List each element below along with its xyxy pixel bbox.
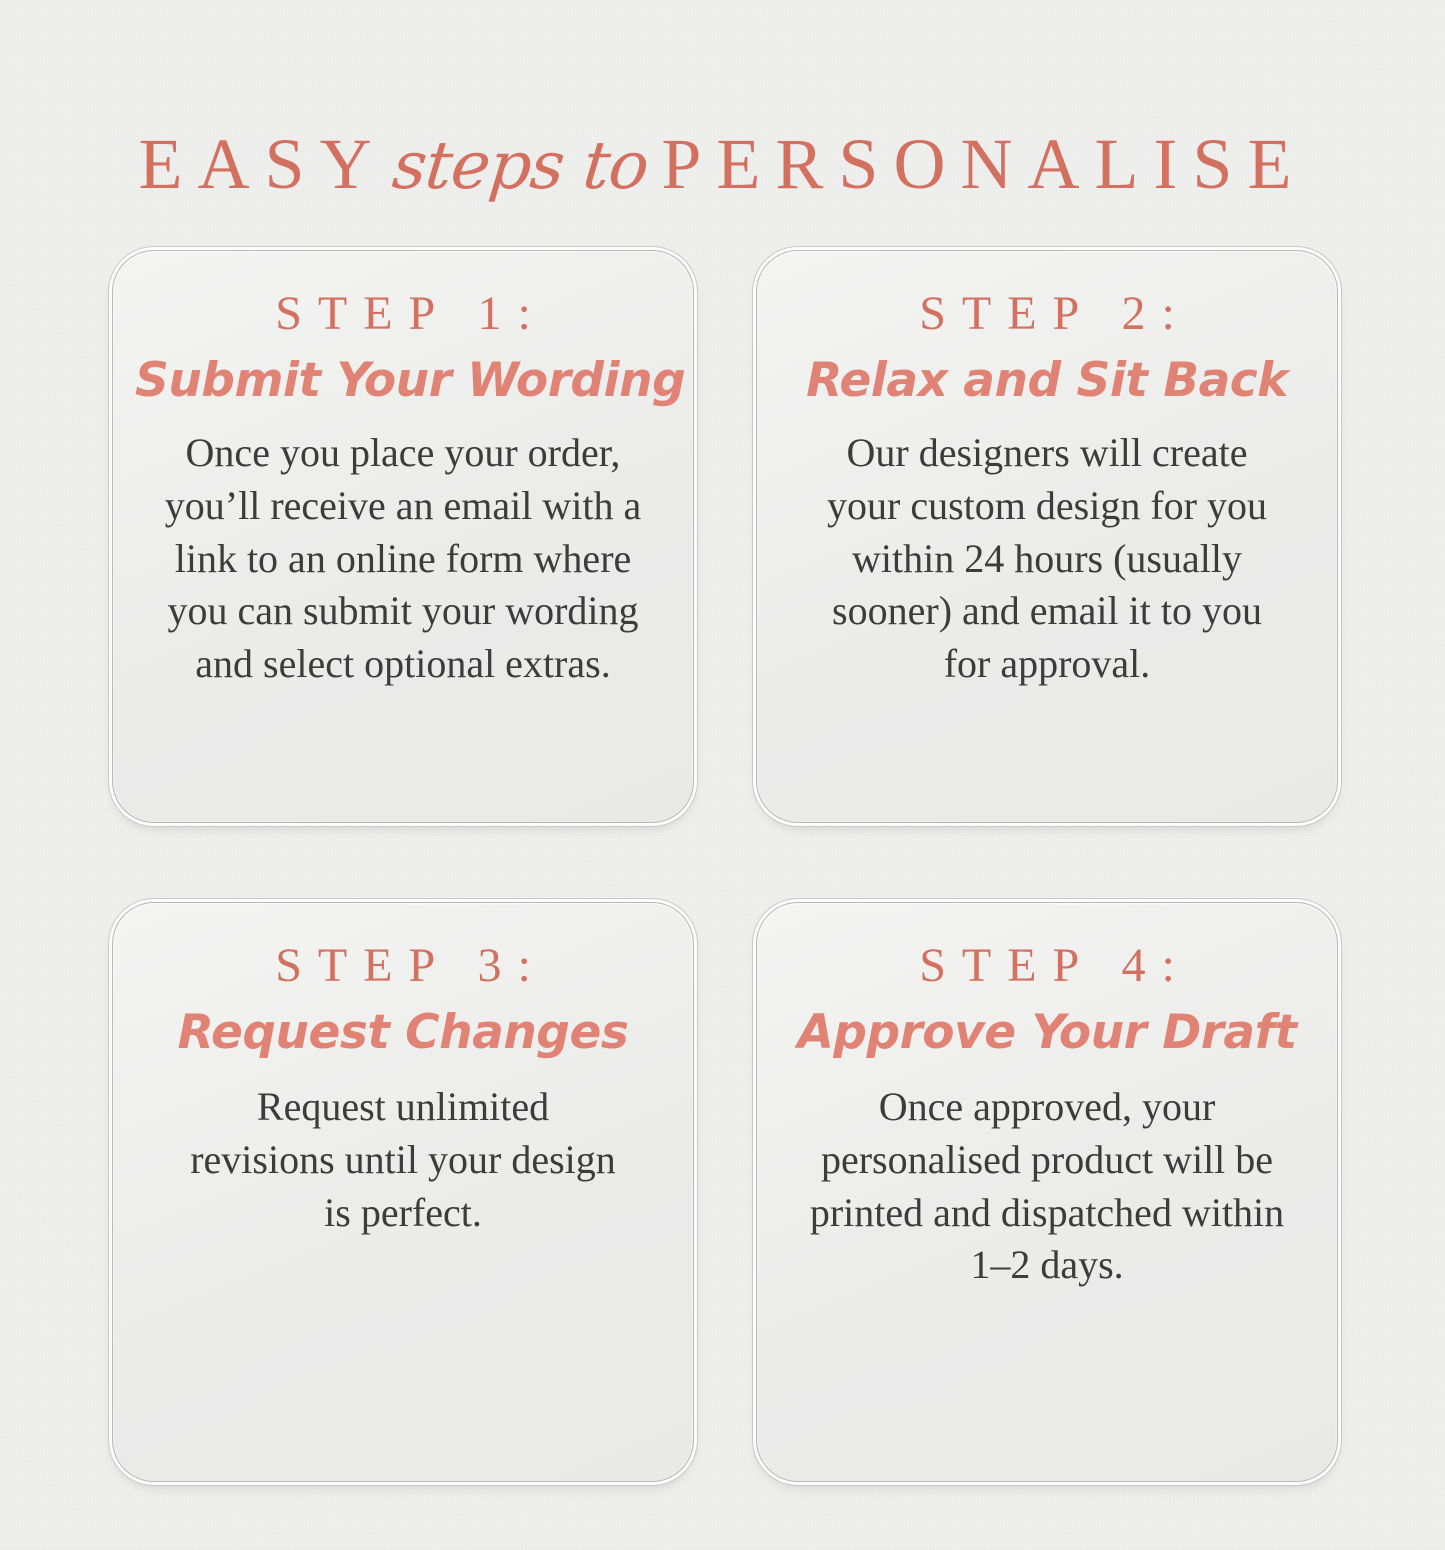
- step-card-2-label: STEP 2:: [779, 289, 1315, 339]
- step-card-2-subtitle: Relax and Sit Back: [779, 355, 1315, 407]
- step-card-1-body: Once you place your order, you’ll receiv…: [135, 427, 671, 691]
- step-card-4-body: Once approved, your personalised product…: [779, 1081, 1315, 1292]
- page-title-part-two: PERSONALISE: [661, 124, 1306, 204]
- step-card-2: STEP 2: Relax and Sit Back Our designers…: [756, 250, 1338, 823]
- step-card-1: STEP 1: Submit Your Wording Once you pla…: [112, 250, 694, 823]
- step-card-1-label: STEP 1:: [135, 289, 671, 339]
- step-card-1-content: STEP 1: Submit Your Wording Once you pla…: [113, 251, 693, 822]
- step-card-3-body: Request unlimited revisions until your d…: [135, 1081, 671, 1239]
- step-card-4: STEP 4: Approve Your Draft Once approved…: [756, 902, 1338, 1482]
- page-title-script-word: steps to: [388, 118, 653, 214]
- step-card-4-content: STEP 4: Approve Your Draft Once approved…: [757, 903, 1337, 1481]
- step-card-1-subtitle: Submit Your Wording: [135, 355, 671, 407]
- page-title-part-one: EASY: [139, 124, 387, 204]
- personalisation-steps-infographic: EASYsteps toPERSONALISE STEP 1: Submit Y…: [0, 0, 1445, 1550]
- step-card-3: STEP 3: Request Changes Request unlimite…: [112, 902, 694, 1482]
- step-card-3-subtitle: Request Changes: [135, 1007, 671, 1059]
- page-title: EASYsteps toPERSONALISE: [0, 116, 1445, 212]
- step-card-3-content: STEP 3: Request Changes Request unlimite…: [113, 903, 693, 1481]
- step-card-3-label: STEP 3:: [135, 941, 671, 991]
- step-card-4-subtitle: Approve Your Draft: [779, 1007, 1315, 1059]
- step-card-4-label: STEP 4:: [779, 941, 1315, 991]
- step-card-2-body: Our designers will create your custom de…: [779, 427, 1315, 691]
- step-card-2-content: STEP 2: Relax and Sit Back Our designers…: [757, 251, 1337, 822]
- steps-card-grid: STEP 1: Submit Your Wording Once you pla…: [108, 250, 1340, 1482]
